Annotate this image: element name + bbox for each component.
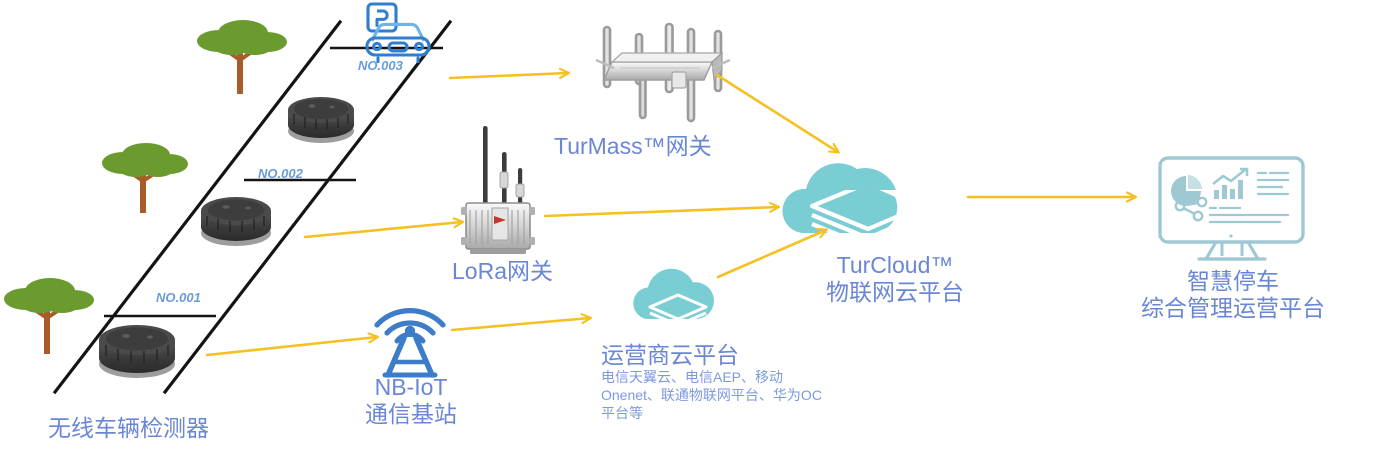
platform-label: 智慧停车 综合管理运营平台	[1135, 268, 1331, 322]
nbiot-label-line2: 通信基站	[352, 401, 470, 428]
dashboard-monitor-icon	[1160, 158, 1303, 259]
vehicle-detector-sensor-3	[288, 97, 354, 143]
lora-gateway-label: LoRa网关	[452, 258, 553, 285]
tree-3	[197, 20, 287, 94]
turmass-gateway-icon	[596, 24, 730, 121]
tree-2	[102, 143, 188, 213]
flow-turmass-to-turcloud	[717, 75, 838, 152]
platform-label-line1: 智慧停车	[1135, 268, 1331, 295]
tree-1	[4, 278, 94, 354]
operator-cloud-details: 电信天翼云、电信AEP、移动 Onenet、联通物联网平台、华为OC 平台等	[601, 369, 822, 423]
slot-label-no002: NO.002	[258, 166, 303, 181]
flow-nbiot-to-operator	[452, 318, 590, 330]
turcloud-icon	[782, 163, 922, 247]
parking-car-icon	[367, 4, 429, 62]
wireless-vehicle-detector-label: 无线车辆检测器	[48, 415, 209, 442]
operator-cloud-icon	[633, 269, 714, 325]
cell-tower-icon	[377, 311, 443, 375]
vehicle-detector-sensor-2	[201, 197, 271, 246]
operator-detail-line3: 平台等	[601, 405, 822, 423]
slot-label-no001: NO.001	[156, 290, 201, 305]
platform-label-line2: 综合管理运营平台	[1135, 295, 1331, 322]
flow-slot2-to-lora	[305, 222, 462, 237]
operator-cloud-title: 运营商云平台	[601, 342, 739, 369]
operator-detail-line2: Onenet、联通物联网平台、华为OC	[601, 387, 822, 405]
operator-detail-line1: 电信天翼云、电信AEP、移动	[601, 369, 822, 387]
turcloud-label-line2: 物联网云平台	[800, 279, 990, 306]
nbiot-label-line1: NB-IoT	[352, 374, 470, 401]
diagram-canvas: NO.003 NO.002 NO.001 无线车辆检测器 TurMass™网关 …	[0, 0, 1400, 454]
flow-lora-to-turcloud	[545, 207, 778, 216]
turcloud-label-line1: TurCloud™	[800, 252, 990, 279]
turmass-gateway-label: TurMass™网关	[554, 133, 712, 160]
turcloud-label: TurCloud™ 物联网云平台	[800, 252, 990, 306]
nbiot-tower-label: NB-IoT 通信基站	[352, 374, 470, 428]
flow-slot1-to-nbiot	[207, 337, 377, 355]
flow-slot3-to-turmass	[450, 73, 568, 78]
parking-slot-dividers	[104, 48, 443, 316]
slot-label-no003: NO.003	[358, 58, 403, 73]
vehicle-detector-sensor-1	[99, 325, 175, 378]
lora-gateway-icon	[461, 126, 535, 254]
